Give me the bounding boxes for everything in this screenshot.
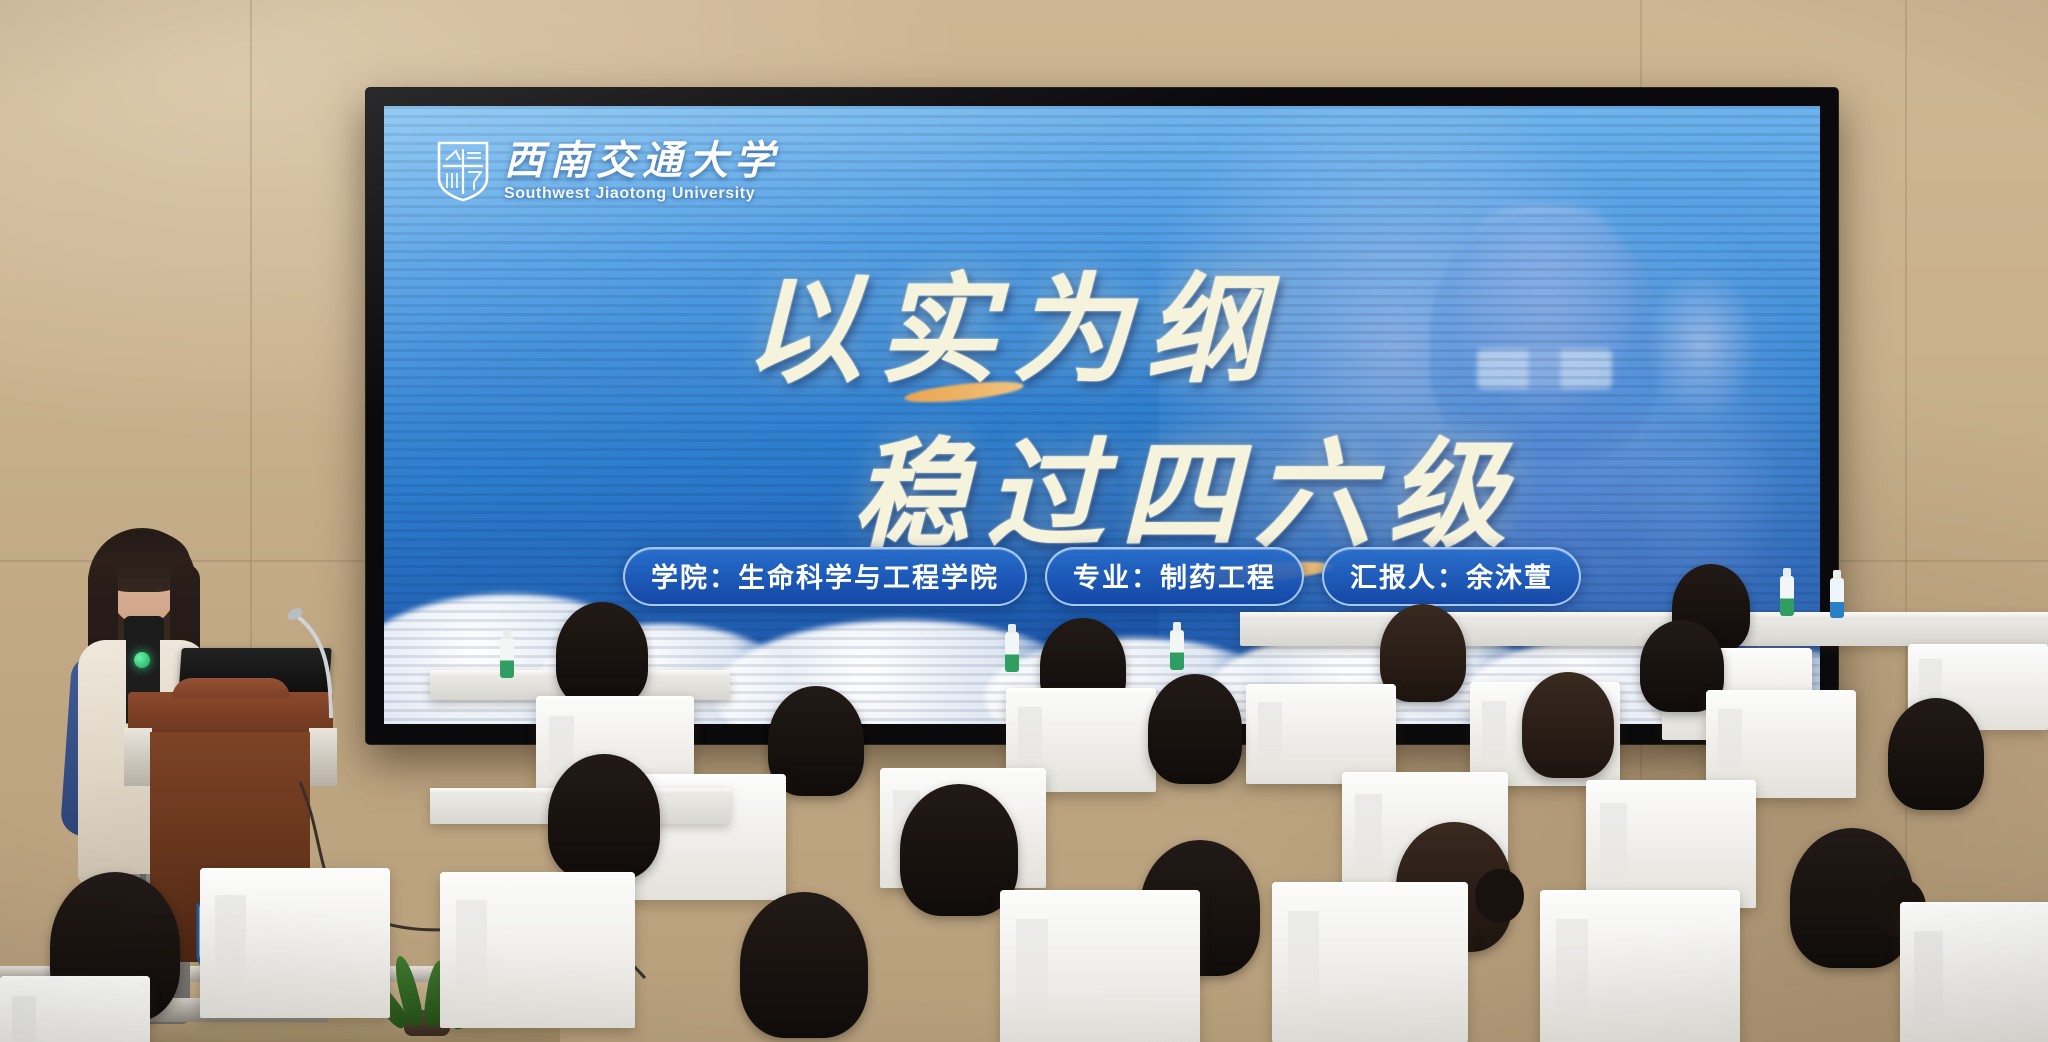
lecture-hall-scene: 西南交通大学 Southwest Jiaotong University 以实为… bbox=[0, 0, 2048, 1042]
chair[interactable] bbox=[1246, 684, 1396, 784]
audience-seating bbox=[0, 572, 2048, 1042]
desk-row bbox=[1240, 612, 2048, 646]
chair[interactable] bbox=[1900, 902, 2048, 1042]
chair[interactable] bbox=[1586, 780, 1756, 908]
audience-head bbox=[548, 754, 660, 880]
audience-head bbox=[1888, 698, 1984, 810]
swjtu-crest-icon bbox=[436, 140, 490, 202]
chair[interactable] bbox=[1272, 882, 1468, 1042]
university-name-en: Southwest Jiaotong University bbox=[504, 186, 780, 202]
chair[interactable] bbox=[1540, 890, 1740, 1042]
audience-head bbox=[1148, 674, 1242, 784]
water-bottle bbox=[1780, 576, 1794, 616]
audience-head bbox=[556, 602, 648, 706]
chair[interactable] bbox=[440, 872, 635, 1028]
audience-head bbox=[740, 892, 868, 1038]
audience-head bbox=[1522, 672, 1614, 778]
chair[interactable] bbox=[1000, 890, 1200, 1042]
overlay-student-secondary bbox=[1617, 279, 1787, 579]
audience-head bbox=[1790, 828, 1914, 968]
university-name-cn: 西南交通大学 bbox=[504, 141, 780, 181]
chair[interactable] bbox=[200, 868, 390, 1018]
water-bottle bbox=[1005, 632, 1019, 672]
water-bottle bbox=[1170, 630, 1184, 670]
university-logo: 西南交通大学 Southwest Jiaotong University bbox=[436, 140, 780, 202]
water-bottle bbox=[500, 638, 514, 678]
chair[interactable] bbox=[0, 976, 150, 1042]
water-bottle bbox=[1830, 578, 1844, 618]
